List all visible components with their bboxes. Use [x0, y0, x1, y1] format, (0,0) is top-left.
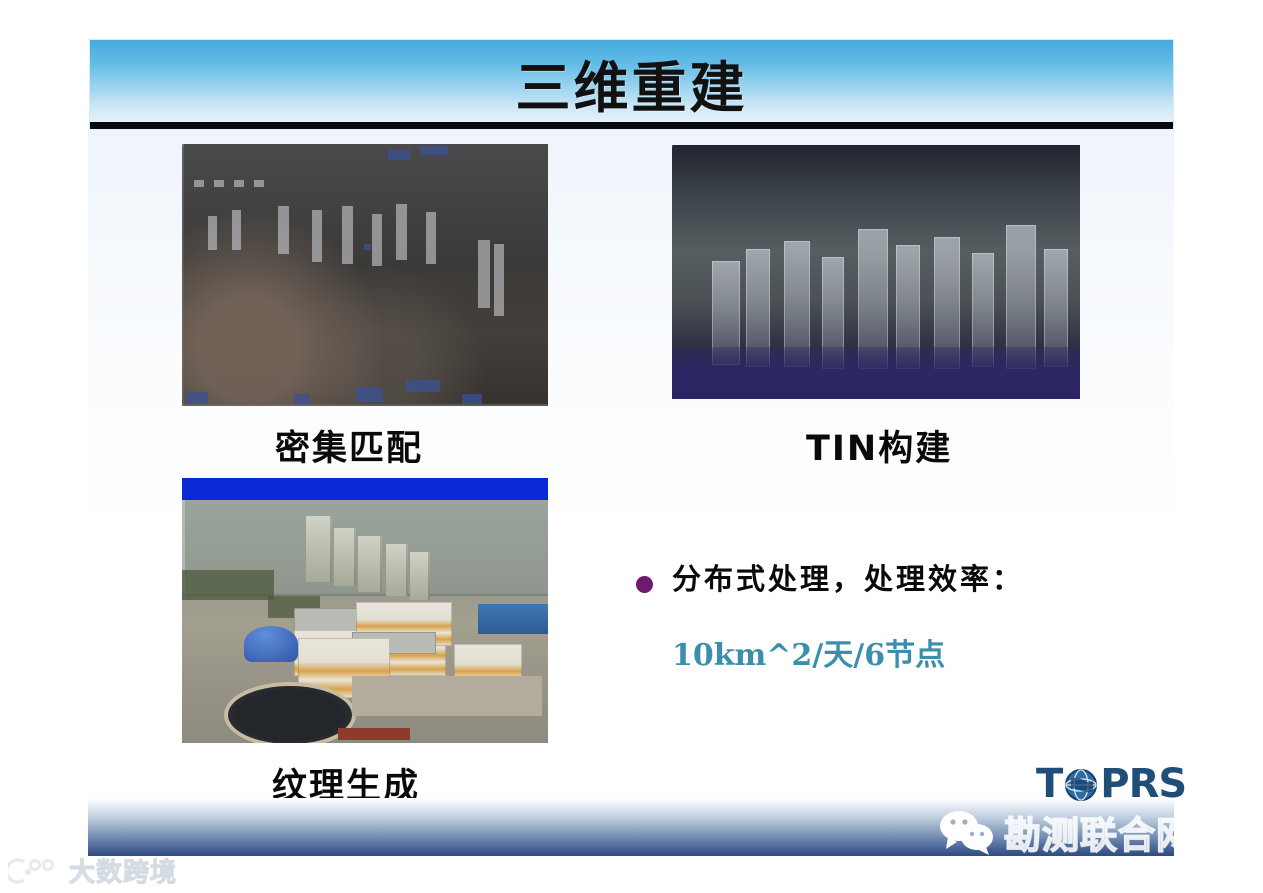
toprs-logo: T PRS [1036, 764, 1186, 804]
tin-base-plane [672, 347, 1080, 399]
figure-texture-generation-image [182, 478, 548, 743]
wechat-bubbles-icon [938, 809, 996, 855]
toprs-logo-text-right: PRS [1100, 764, 1186, 804]
slide-canvas: 三维重建 密集匹配 [0, 0, 1263, 893]
corner-watermark-text: 大数跨境 [69, 852, 177, 889]
figure-tin-construction-image [672, 145, 1080, 399]
wechat-watermark: 勘测联合网 [938, 805, 1194, 859]
figure-dense-matching-image [182, 144, 548, 406]
toprs-logo-text-left: T [1036, 764, 1062, 804]
figure-caption-dense-matching: 密集匹配 [275, 420, 423, 471]
bullet-detail-text: 10km^2/天/6节点 [672, 630, 945, 674]
bullet-text: 分布式处理，处理效率： [672, 564, 1024, 596]
globe-icon [1063, 767, 1099, 803]
bullet-item: 分布式处理，处理效率： [636, 564, 1024, 596]
wechat-watermark-text: 勘测联合网 [1004, 805, 1194, 859]
title-underline-rule [90, 122, 1173, 129]
slide-title-band: 三维重建 [90, 40, 1173, 125]
dsjk-logo-icon [8, 856, 62, 886]
corner-watermark: 大数跨境 [8, 852, 177, 889]
figure-caption-tin-construction: TIN构建 [806, 420, 952, 471]
bullet-dot-icon [636, 576, 653, 593]
page-title: 三维重建 [90, 40, 1173, 125]
